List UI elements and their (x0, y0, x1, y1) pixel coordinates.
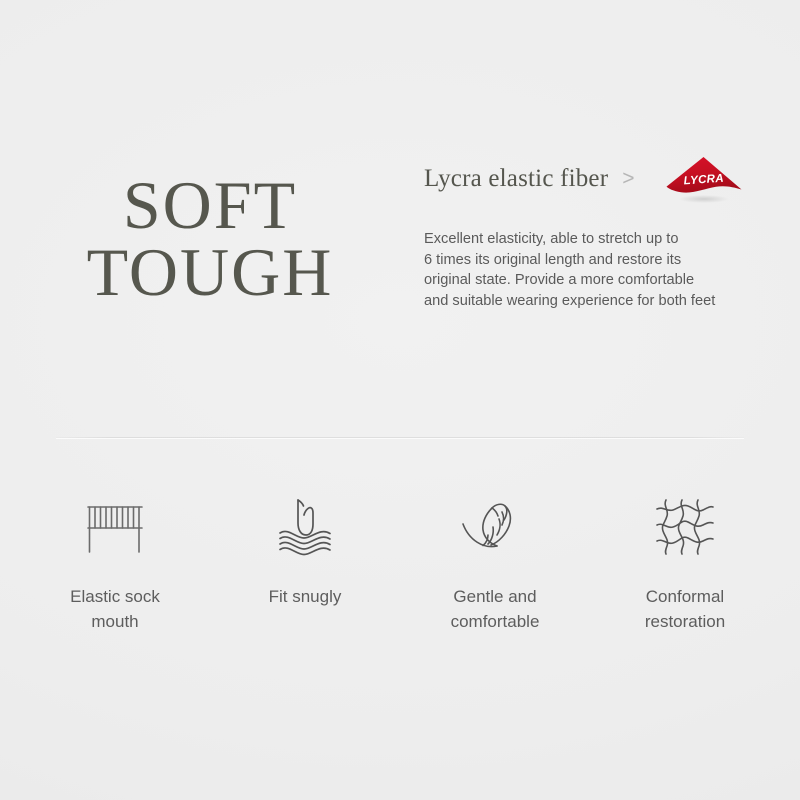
page-title-line-2: TOUGH (30, 239, 390, 306)
feature-item-gentle-and-comfortable: Gentle and comfortable (400, 490, 590, 634)
lycra-heading-row: Lycra elastic fiber > (424, 150, 784, 208)
feature-item-fit-snugly: Fit snugly (210, 490, 400, 634)
lycra-description-line-4: and suitable wearing experience for both… (424, 291, 784, 312)
page-title: SOFT TOUGH (30, 172, 390, 307)
feature-label-line-1: Elastic sock (70, 587, 160, 606)
sock-cuff-ribbing-icon (75, 490, 155, 562)
feature-label-line-1: Fit snugly (269, 587, 342, 606)
lycra-logo: LYCRA (663, 154, 745, 204)
foot-over-waves-icon (265, 490, 345, 562)
feature-label-gentle-and-comfortable: Gentle and comfortable (451, 584, 540, 634)
lycra-panel: Lycra elastic fiber > (424, 150, 784, 311)
feature-label-line-2: mouth (91, 612, 138, 631)
hero-section: SOFT TOUGH Lycra elastic fiber > (0, 150, 800, 380)
fiber-mesh-icon (645, 490, 725, 562)
lycra-description-line-1: Excellent elasticity, able to stretch up… (424, 229, 784, 250)
page-title-line-1: SOFT (30, 172, 390, 239)
feature-label-line-1: Conformal (646, 587, 724, 606)
feature-label-fit-snugly: Fit snugly (269, 584, 342, 609)
lycra-description: Excellent elasticity, able to stretch up… (424, 229, 784, 311)
feature-label-line-2: restoration (645, 612, 725, 631)
feature-list: Elastic sock mouth Fit snugly (20, 490, 780, 634)
feature-label-conformal-restoration: Conformal restoration (645, 584, 725, 634)
feature-item-conformal-restoration: Conformal restoration (590, 490, 780, 634)
lycra-heading: Lycra elastic fiber (424, 165, 608, 193)
chevron-right-icon[interactable]: > (622, 167, 634, 191)
lycra-description-line-3: original state. Provide a more comfortab… (424, 270, 784, 291)
product-feature-banner: SOFT TOUGH Lycra elastic fiber > (0, 0, 800, 800)
feature-label-line-1: Gentle and (453, 587, 536, 606)
feature-item-elastic-sock-mouth: Elastic sock mouth (20, 490, 210, 634)
feature-label-elastic-sock-mouth: Elastic sock mouth (70, 584, 160, 634)
lycra-description-line-2: 6 times its original length and restore … (424, 250, 784, 271)
section-divider (56, 437, 744, 438)
feather-icon (455, 490, 535, 562)
feature-label-line-2: comfortable (451, 612, 540, 631)
